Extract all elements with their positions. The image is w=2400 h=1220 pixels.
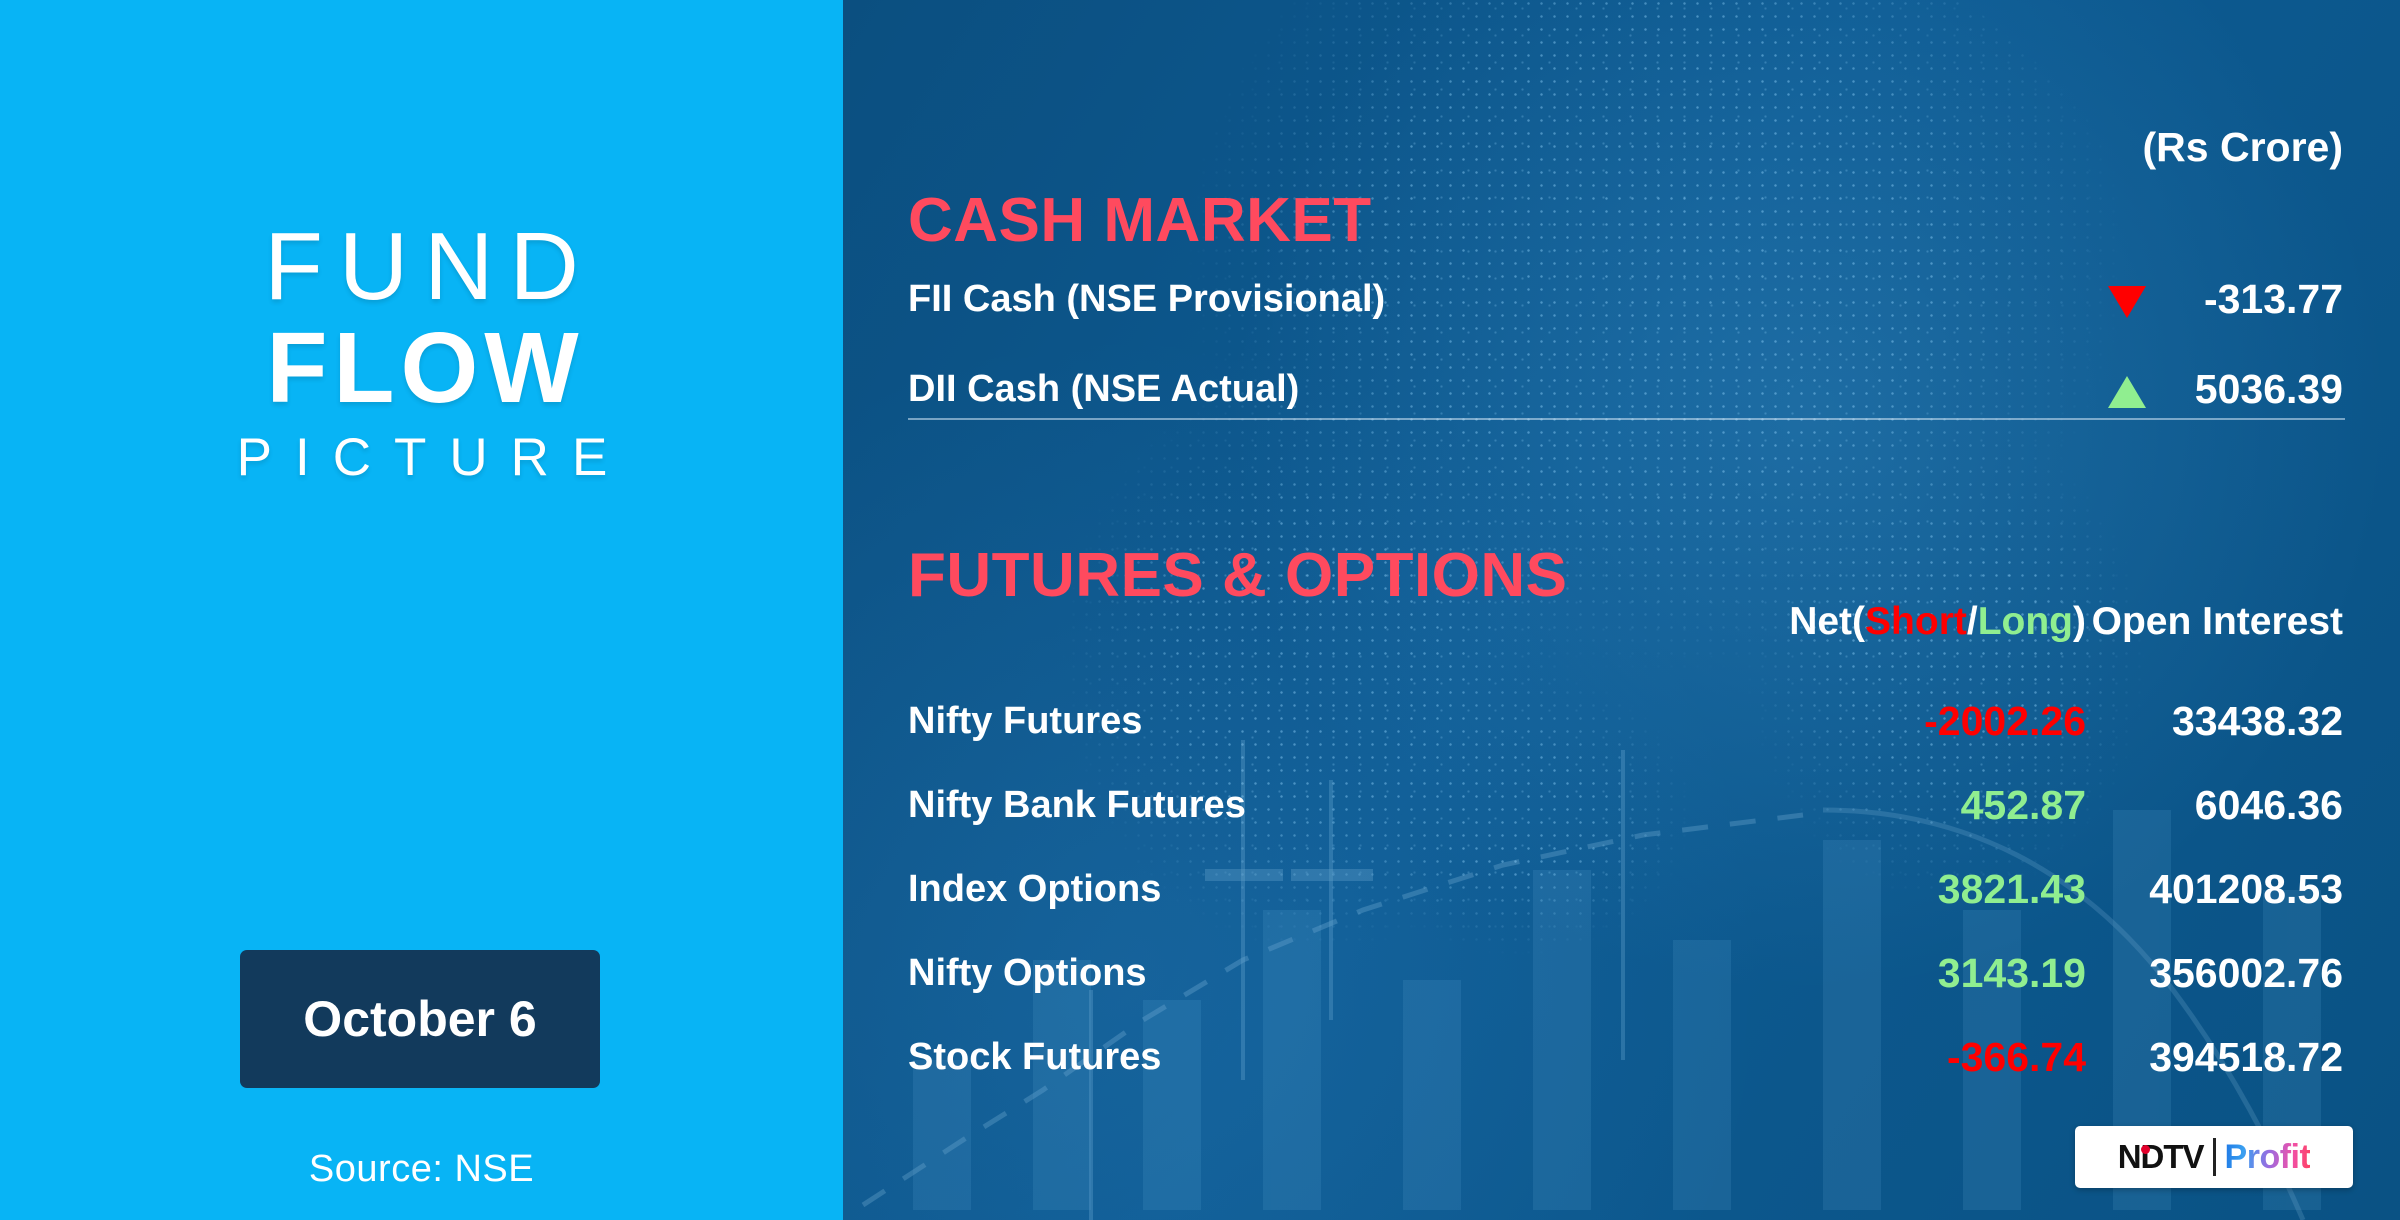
arrow-up-icon — [2108, 376, 2146, 408]
section-divider — [908, 418, 2345, 420]
brand-line-flow: FLOW — [0, 316, 843, 420]
source-label: Source: NSE — [0, 1148, 843, 1191]
cash-market-title: CASH MARKET — [908, 185, 1372, 256]
ndtv-profit-logo: NDTV Profit — [2075, 1126, 2353, 1188]
fo-row-name: Index Options — [908, 868, 1161, 911]
fo-header-net: Net(Short/Long) — [1789, 600, 2086, 644]
fo-row-name: Stock Futures — [908, 1036, 1161, 1079]
date-badge: October 6 — [240, 950, 600, 1088]
ndtv-red-dot-icon — [2141, 1145, 2150, 1154]
arrow-down-icon — [2108, 286, 2146, 318]
cash-row-fii-label: FII Cash (NSE Provisional) — [908, 278, 1385, 321]
fo-row-net: -2002.26 — [1924, 698, 2086, 745]
fo-row-name: Nifty Bank Futures — [908, 784, 1246, 827]
fo-row-stock-futures: Stock Futures -366.74 394518.72 — [908, 1036, 2343, 1088]
fo-row-index-options: Index Options 3821.43 401208.53 — [908, 868, 2343, 920]
fo-header-net-long: Long — [1978, 600, 2073, 643]
brand-logo: FUND FLOW PICTURE — [0, 218, 843, 493]
ndtv-wordmark: NDTV — [2118, 1138, 2204, 1176]
profit-wordmark: Profit — [2225, 1138, 2311, 1177]
fo-row-net: 3821.43 — [1938, 866, 2086, 913]
cash-row-dii-value: 5036.39 — [2195, 366, 2343, 413]
brand-line-fund: FUND — [0, 218, 843, 316]
fo-row-net: 3143.19 — [1938, 950, 2086, 997]
brand-line-picture: PICTURE — [0, 424, 843, 493]
cash-row-fii: FII Cash (NSE Provisional) -313.77 — [908, 278, 2343, 332]
fo-row-open-interest: 401208.53 — [2149, 866, 2343, 913]
brand-panel: FUND FLOW PICTURE October 6 Source: NSE — [0, 0, 843, 1220]
fo-header-net-short: Short — [1865, 600, 1967, 643]
fo-row-open-interest: 33438.32 — [2172, 698, 2343, 745]
fo-row-nifty-futures: Nifty Futures -2002.26 33438.32 — [908, 700, 2343, 752]
fo-header-net-slash: / — [1967, 600, 1978, 643]
cash-row-dii: DII Cash (NSE Actual) 5036.39 — [908, 368, 2343, 422]
units-label: (Rs Crore) — [2143, 124, 2343, 171]
fo-row-net: 452.87 — [1961, 782, 2086, 829]
cash-row-dii-label: DII Cash (NSE Actual) — [908, 368, 1299, 411]
fo-row-net: -366.74 — [1947, 1034, 2086, 1081]
fo-row-name: Nifty Futures — [908, 700, 1142, 743]
fo-row-name: Nifty Options — [908, 952, 1147, 995]
fo-row-open-interest: 6046.36 — [2195, 782, 2343, 829]
fo-header-net-suffix: ) — [2073, 600, 2086, 643]
fo-row-nifty-bank-futures: Nifty Bank Futures 452.87 6046.36 — [908, 784, 2343, 836]
ndtv-text: NDTV — [2118, 1138, 2204, 1176]
fo-row-open-interest: 394518.72 — [2149, 1034, 2343, 1081]
date-label: October 6 — [303, 990, 536, 1048]
fo-row-nifty-options: Nifty Options 3143.19 356002.76 — [908, 952, 2343, 1004]
data-panel: (Rs Crore) CASH MARKET FII Cash (NSE Pro… — [843, 0, 2400, 1220]
fo-header-net-prefix: Net( — [1789, 600, 1865, 643]
fo-header-open-interest: Open Interest — [2092, 600, 2343, 644]
fo-row-open-interest: 356002.76 — [2149, 950, 2343, 997]
fund-flow-picture-graphic: FUND FLOW PICTURE October 6 Source: NSE — [0, 0, 2400, 1220]
cash-row-fii-value: -313.77 — [2204, 276, 2343, 323]
logo-divider — [2213, 1138, 2216, 1176]
fo-table-header: Net(Short/Long) Open Interest — [908, 600, 2343, 648]
